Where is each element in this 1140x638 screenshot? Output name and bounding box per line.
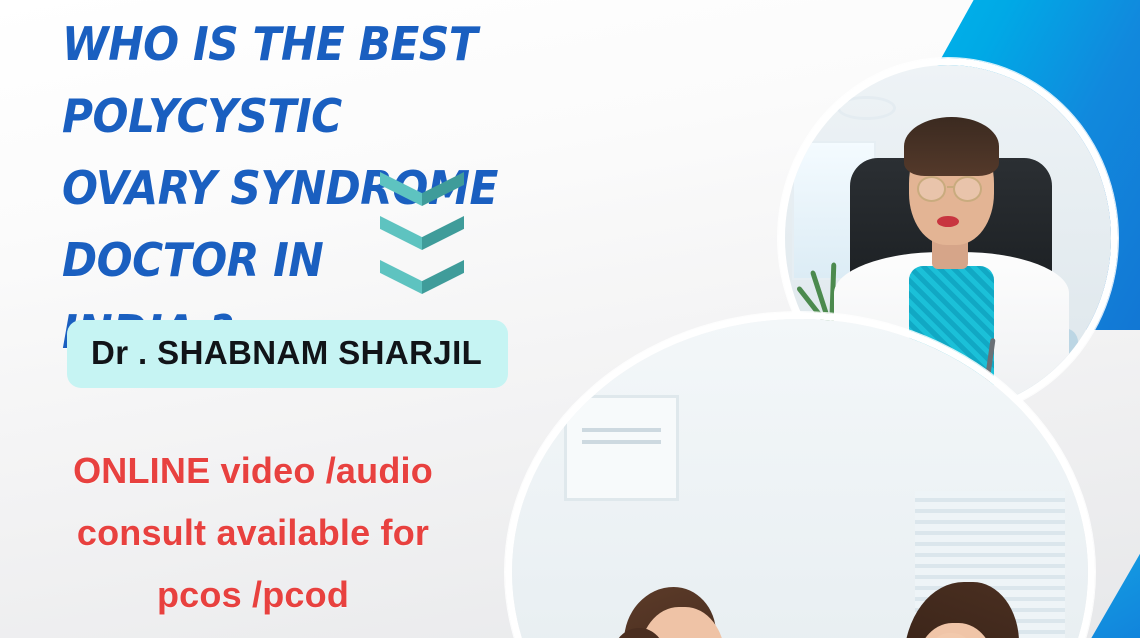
consultation-photo bbox=[505, 312, 1095, 638]
ceiling-lamp bbox=[837, 96, 896, 120]
eyeglasses-left-lens bbox=[917, 176, 946, 202]
chevron-down-icon bbox=[380, 260, 464, 294]
chevron-down-icon bbox=[380, 172, 464, 206]
chevron-left-half bbox=[380, 172, 422, 206]
chevron-down-icon bbox=[380, 216, 464, 250]
wall-certificate-frame bbox=[564, 395, 679, 501]
consultation-scene bbox=[512, 319, 1088, 638]
chevron-right-half bbox=[422, 260, 464, 294]
chevron-right-half bbox=[422, 216, 464, 250]
poster-canvas: WHO IS THE BEST POLYCYSTIC OVARY SYNDROM… bbox=[0, 0, 1140, 638]
doctor-hair bbox=[904, 117, 999, 176]
chevron-right-half bbox=[422, 172, 464, 206]
promo-text: ONLINE video /audio consult available fo… bbox=[18, 440, 488, 626]
eyeglasses-bridge bbox=[947, 186, 954, 188]
chevron-left-half bbox=[380, 260, 422, 294]
chevron-arrows-group bbox=[380, 172, 464, 304]
chevron-left-half bbox=[380, 216, 422, 250]
doctor-name-badge: Dr . SHABNAM SHARJIL bbox=[67, 320, 508, 388]
eyeglasses-right-lens bbox=[953, 176, 982, 202]
